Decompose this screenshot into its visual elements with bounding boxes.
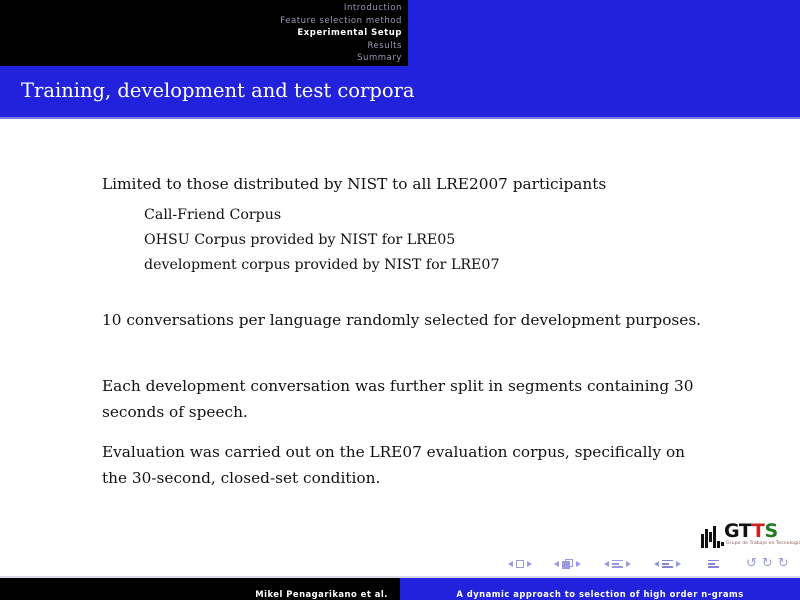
gtts-logo: GTTS Grupo de Trabajo en Tecnologias del… xyxy=(700,519,792,557)
footer-talk-title: A dynamic approach to selection of high … xyxy=(456,589,743,599)
nav-subsection-group[interactable] xyxy=(604,557,631,571)
nav-section-group[interactable] xyxy=(654,557,681,571)
nav-frame-group[interactable] xyxy=(554,557,581,571)
nav-slide-group[interactable] xyxy=(508,557,532,571)
footer-title-area: A dynamic approach to selection of high … xyxy=(400,578,800,600)
footer-author: Mikel Penagarikano et al. xyxy=(255,589,388,599)
nav-item-experimental-setup[interactable]: Experimental Setup xyxy=(0,27,402,40)
body-paragraph-3: Evaluation was carried out on the LRE07 … xyxy=(102,439,702,491)
nav-forward-icon[interactable]: ↻ xyxy=(778,557,791,571)
nav-document-icon[interactable] xyxy=(708,560,719,569)
nav-next-subsection-icon[interactable] xyxy=(626,561,631,567)
nav-item-feature-selection[interactable]: Feature selection method xyxy=(0,15,402,28)
body-sub-item-3: development corpus provided by NIST for … xyxy=(144,253,704,278)
nav-prev-subsection-icon[interactable] xyxy=(604,561,609,567)
waveform-bars-icon xyxy=(700,522,726,548)
nav-slide-icon[interactable] xyxy=(516,560,524,568)
slide-title: Training, development and test corpora xyxy=(21,79,415,103)
header-blue-fill xyxy=(408,0,800,66)
body-paragraph-1: 10 conversations per language randomly s… xyxy=(102,307,702,333)
body-paragraph-2: Each development conversation was furthe… xyxy=(102,373,702,425)
body-sub-item-1: Call-Friend Corpus xyxy=(144,203,704,228)
section-navigation: Introduction Feature selection method Ex… xyxy=(0,0,408,66)
footer-author-area: Mikel Penagarikano et al. xyxy=(0,578,400,600)
nav-prev-slide-icon[interactable] xyxy=(508,561,513,567)
nav-search-icon[interactable]: ↻ xyxy=(762,557,775,571)
logo-letter-t2: T xyxy=(752,520,765,542)
nav-prev-section-icon[interactable] xyxy=(654,561,659,567)
gtts-logo-subtitle: Grupo de Trabajo en Tecnologias del Soft… xyxy=(726,541,800,546)
nav-next-section-icon[interactable] xyxy=(676,561,681,567)
logo-letter-g: G xyxy=(724,520,739,542)
nav-prev-frame-icon[interactable] xyxy=(554,561,559,567)
body-sub-item-2: OHSU Corpus provided by NIST for LRE05 xyxy=(144,228,704,253)
body-intro-line: Limited to those distributed by NIST to … xyxy=(102,171,702,197)
logo-letter-t1: T xyxy=(739,520,752,542)
nav-item-results[interactable]: Results xyxy=(0,40,402,53)
nav-next-slide-icon[interactable] xyxy=(527,561,532,567)
beamer-navigation-symbols[interactable]: ↺ ↻ ↻ xyxy=(508,557,793,573)
nav-subsection-icon[interactable] xyxy=(612,560,623,569)
nav-back-icon[interactable]: ↺ xyxy=(746,557,759,571)
slide-footer: Mikel Penagarikano et al. A dynamic appr… xyxy=(0,578,800,600)
nav-document-group[interactable] xyxy=(708,557,719,571)
nav-frame-icon[interactable] xyxy=(562,559,573,569)
nav-item-introduction[interactable]: Introduction xyxy=(0,2,402,15)
slide-body: Limited to those distributed by NIST to … xyxy=(0,119,800,574)
nav-section-icon[interactable] xyxy=(662,560,673,569)
gtts-wordmark: GTTS xyxy=(724,521,778,541)
slide-title-bar: Training, development and test corpora xyxy=(0,66,800,117)
nav-item-summary[interactable]: Summary xyxy=(0,52,402,65)
logo-letter-s: S xyxy=(764,520,777,542)
nav-next-frame-icon[interactable] xyxy=(576,561,581,567)
nav-arrow-group[interactable]: ↺ ↻ ↻ xyxy=(746,557,791,571)
